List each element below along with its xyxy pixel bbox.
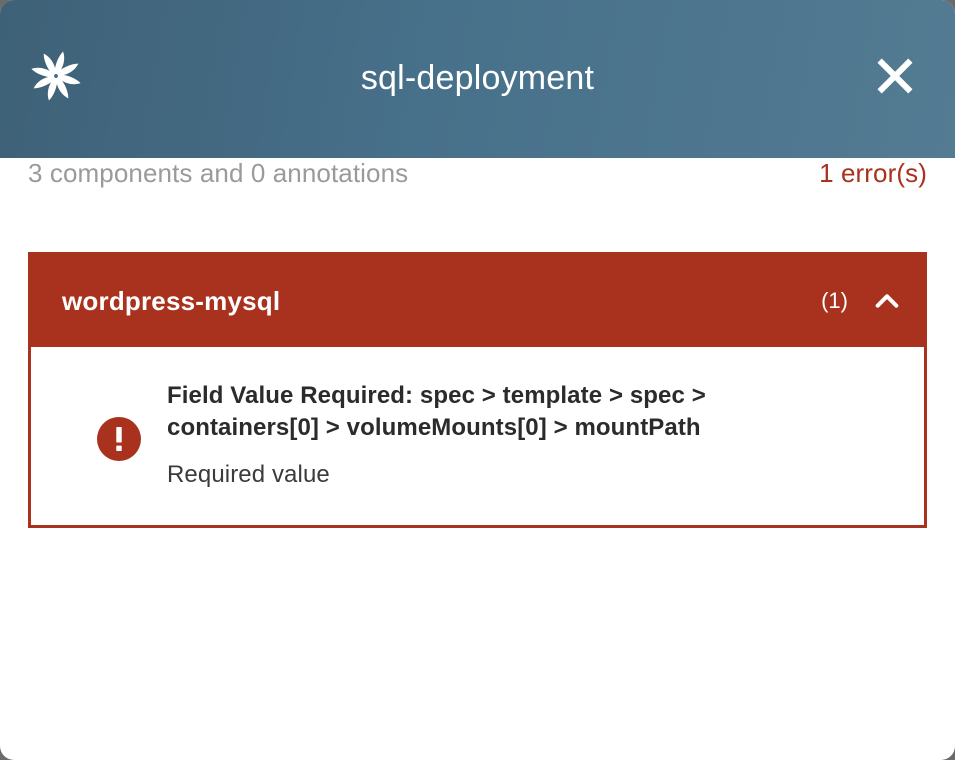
accordion-title: wordpress-mysql	[62, 286, 821, 317]
resource-detail-modal: sql-deployment 3 components and 0 annota…	[0, 0, 955, 760]
accordion-header-wordpress-mysql[interactable]: wordpress-mysql (1)	[31, 255, 924, 347]
error-exclamation-icon	[97, 417, 141, 461]
page-title: sql-deployment	[0, 61, 955, 97]
chevron-up-icon[interactable]	[872, 286, 902, 316]
components-summary-text: 3 components and 0 annotations	[28, 158, 408, 189]
summary-row: 3 components and 0 annotations 1 error(s…	[28, 158, 927, 252]
error-title: Field Value Required: spec > template > …	[167, 380, 787, 445]
error-message-block: Field Value Required: spec > template > …	[167, 377, 902, 491]
monokle-pinwheel-logo-icon	[28, 48, 84, 104]
accordion-panel: Field Value Required: spec > template > …	[31, 347, 924, 525]
resource-accordion: wordpress-mysql (1) Fiel	[28, 252, 927, 528]
accordion-error-count: (1)	[821, 288, 848, 314]
close-icon[interactable]	[871, 52, 919, 100]
error-detail: Required value	[167, 459, 902, 491]
error-count-text: 1 error(s)	[819, 158, 927, 189]
modal-body: 3 components and 0 annotations 1 error(s…	[0, 158, 955, 528]
modal-header: sql-deployment	[0, 0, 955, 158]
